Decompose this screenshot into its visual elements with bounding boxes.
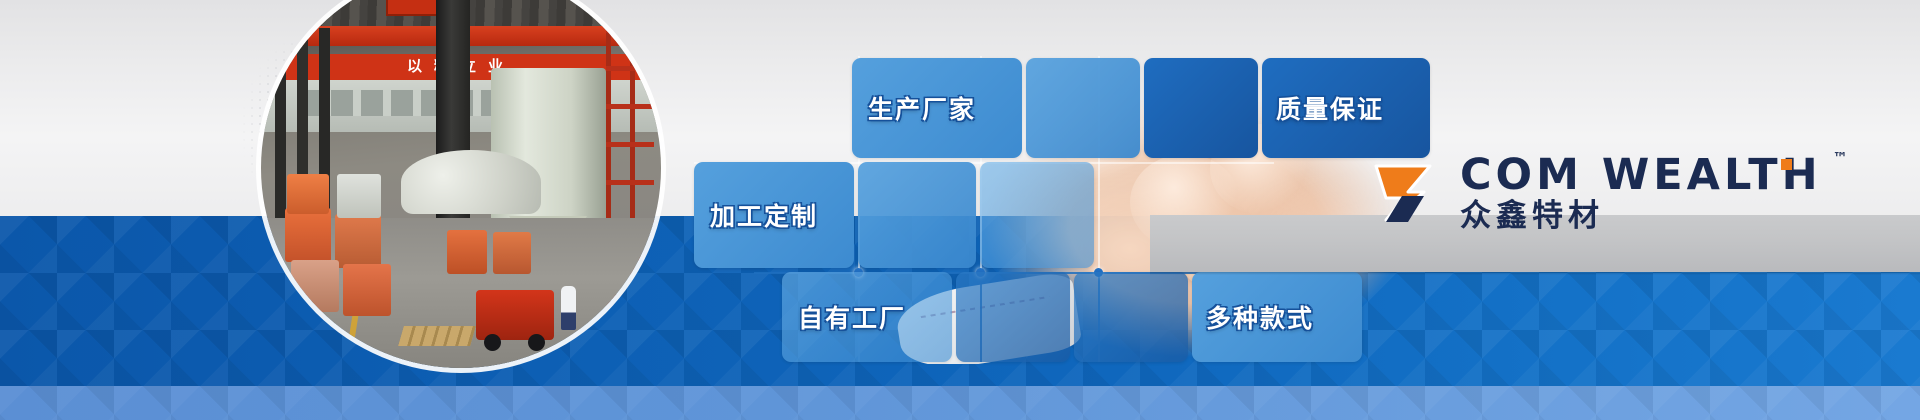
logo-english-label: COM WEALTH xyxy=(1460,150,1822,200)
forklift-wheel xyxy=(528,334,545,351)
bulk-bag xyxy=(287,174,329,214)
logo-strip-shadow xyxy=(1150,272,1920,275)
white-sack-pile xyxy=(401,150,541,214)
tile-custom-label: 加工定制 xyxy=(710,197,818,233)
logo-orange-accent xyxy=(1781,159,1792,170)
wooden-pallet xyxy=(398,326,476,346)
com-wealth-logo[interactable]: COM WEALTH ™ 众鑫特材 xyxy=(1372,152,1842,234)
hero-banner: 以精立业 xyxy=(0,0,1920,420)
bulk-bag xyxy=(343,264,391,316)
logo-wordmark: COM WEALTH ™ 众鑫特材 xyxy=(1460,155,1822,230)
tile-quality-label: 质量保证 xyxy=(1276,90,1384,126)
tile-quality-a[interactable] xyxy=(1144,58,1258,158)
bulk-bag xyxy=(337,174,381,218)
tile-production-b[interactable] xyxy=(1026,58,1140,158)
tile-styles[interactable]: 多种款式 xyxy=(1192,272,1362,362)
tile-custom[interactable]: 加工定制 xyxy=(694,162,854,268)
tile-factory-b[interactable] xyxy=(956,272,1070,362)
tile-custom-b[interactable] xyxy=(858,162,976,268)
factory-scene: 以精立业 xyxy=(261,0,661,368)
tile-factory[interactable]: 自有工厂 xyxy=(782,272,952,362)
worker-figure xyxy=(561,286,576,330)
tile-styles-label: 多种款式 xyxy=(1206,299,1314,335)
bulk-bag xyxy=(285,208,331,262)
bulk-bag xyxy=(493,232,531,274)
trademark-symbol: ™ xyxy=(1833,151,1848,165)
background-bottom-band xyxy=(0,386,1920,420)
tile-mid-c[interactable] xyxy=(980,162,1094,268)
tile-factory-label: 自有工厂 xyxy=(798,299,906,335)
bulk-bag xyxy=(447,230,487,274)
bulk-bag xyxy=(291,260,339,312)
factory-interior-photo: 以精立业 xyxy=(261,0,661,368)
tile-quality[interactable]: 质量保证 xyxy=(1262,58,1430,158)
diamond-pattern-light xyxy=(0,386,1920,420)
tile-styles-a[interactable] xyxy=(1074,272,1188,362)
logo-english-text: COM WEALTH ™ xyxy=(1460,155,1822,196)
logo-chinese-label: 众鑫特材 xyxy=(1460,200,1822,231)
steel-post-a xyxy=(275,28,286,228)
tile-production[interactable]: 生产厂家 xyxy=(852,58,1022,158)
forklift xyxy=(476,290,554,340)
logo-mark-icon xyxy=(1372,156,1446,230)
tile-production-label: 生产厂家 xyxy=(868,90,976,126)
bulk-bag xyxy=(335,214,381,268)
forklift-wheel xyxy=(484,334,501,351)
